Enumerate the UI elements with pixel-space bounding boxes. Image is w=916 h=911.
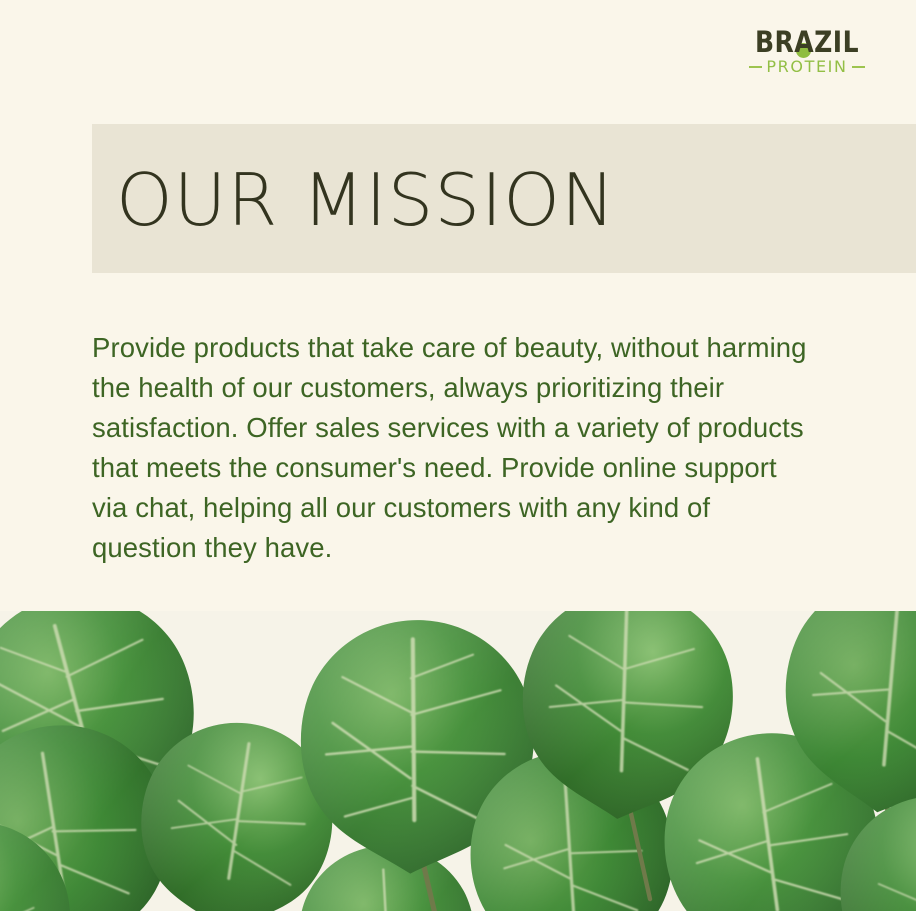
page-title: OUR MISSION: [116, 158, 616, 242]
logo-rule-left-icon: [749, 66, 762, 68]
brand-logo[interactable]: BRAZIL PROTEIN: [742, 27, 872, 77]
slide-canvas: BRAZIL PROTEIN OUR MISSION Provide produ…: [0, 0, 916, 911]
leaf-photo: [0, 611, 916, 911]
logo-tagline-group: PROTEIN: [742, 58, 872, 76]
logo-rule-right-icon: [852, 66, 865, 68]
mission-statement-text: Provide products that take care of beaut…: [92, 328, 808, 568]
logo-brand-text: BRAZIL: [745, 27, 870, 57]
logo-tagline-text: PROTEIN: [766, 58, 847, 76]
